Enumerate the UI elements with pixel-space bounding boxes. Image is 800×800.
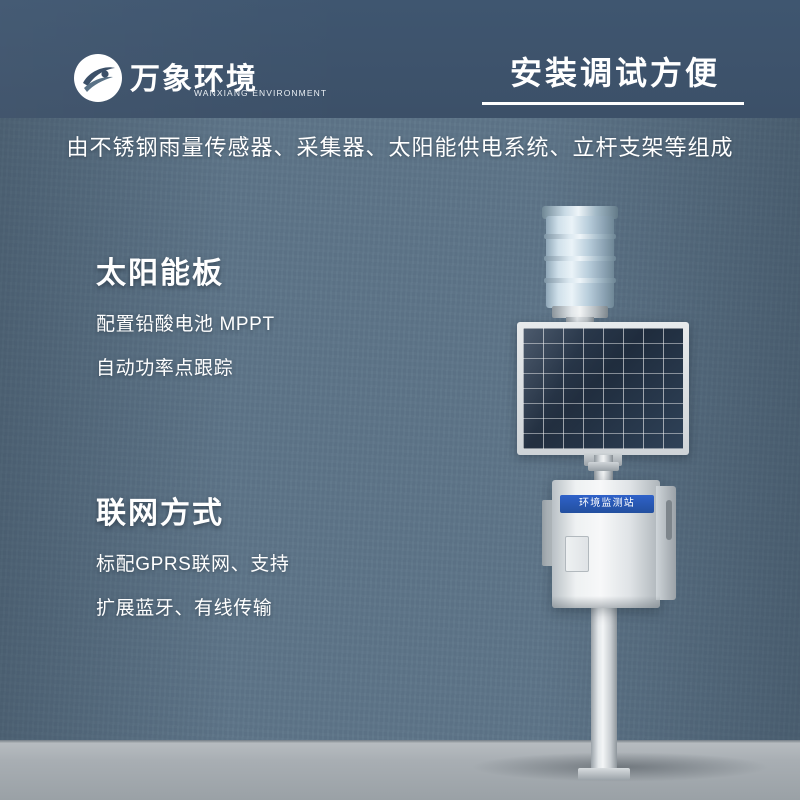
feature-line-network-1: 标配GPRS联网、支持 <box>96 549 289 576</box>
pole-clamp <box>588 462 619 471</box>
feature-line-solar-1: 配置铅酸电池 MPPT <box>96 309 275 336</box>
feature-title-network: 联网方式 <box>96 488 289 532</box>
enclosure-label: 环境监测站 <box>560 495 654 513</box>
enclosure-cable <box>666 500 672 540</box>
rain-gauge-ring-3 <box>544 278 616 283</box>
brand-logo: 万象环境 WANXIANG ENVIRONMENT <box>72 50 322 106</box>
title-underline <box>482 102 744 105</box>
solar-panel-glare <box>523 328 683 449</box>
rain-gauge-ring-1 <box>544 234 616 239</box>
feature-line-network-2: 扩展蓝牙、有线传输 <box>96 593 289 620</box>
mounting-pole-base <box>578 768 630 780</box>
feature-block-solar: 太阳能板 配置铅酸电池 MPPT 自动功率点跟踪 <box>96 248 275 380</box>
page-title: 安装调试方便 <box>470 48 760 94</box>
feature-title-solar: 太阳能板 <box>96 248 275 292</box>
mounting-pole-lower <box>591 605 617 773</box>
subtitle-text: 由不锈钢雨量传感器、采集器、太阳能供电系统、立杆支架等组成 <box>0 130 800 162</box>
weather-station-device: 环境监测站 <box>470 200 770 780</box>
wanxiang-swirl-logo-icon <box>72 52 124 104</box>
promo-image-root: 万象环境 WANXIANG ENVIRONMENT 安装调试方便 由不锈钢雨量传… <box>0 0 800 800</box>
feature-line-solar-2: 自动功率点跟踪 <box>96 353 275 380</box>
enclosure-bottom-shadow <box>552 596 660 608</box>
feature-block-network: 联网方式 标配GPRS联网、支持 扩展蓝牙、有线传输 <box>96 488 289 620</box>
enclosure-vent-panel <box>565 536 589 572</box>
logo-name-en: WANXIANG ENVIRONMENT <box>194 88 327 98</box>
rain-gauge-ring-2 <box>544 256 616 261</box>
rain-gauge-sensor <box>546 216 614 308</box>
